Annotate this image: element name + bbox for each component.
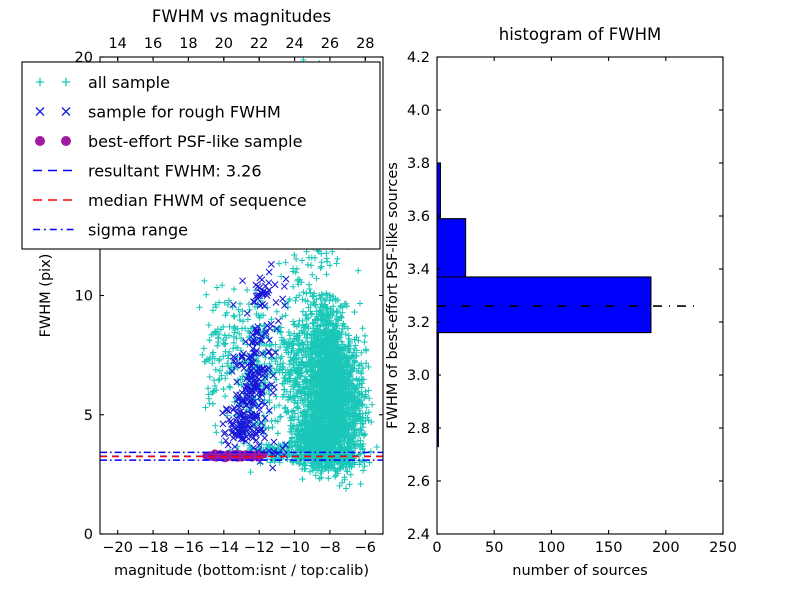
- marker-plus: [292, 298, 298, 304]
- histogram-ytick-label: 2.4: [407, 527, 430, 543]
- legend-item-label: resultant FWHM: 3.26: [88, 162, 262, 181]
- marker-plus: [274, 309, 280, 315]
- histogram-ytick-label: 2.6: [407, 474, 430, 490]
- marker-plus: [346, 332, 352, 338]
- marker-plus: [201, 345, 207, 351]
- marker-plus: [237, 317, 243, 323]
- scatter-top-tick-label: 14: [108, 36, 126, 52]
- marker-plus: [269, 418, 275, 424]
- marker-plus: [199, 352, 205, 358]
- histogram-ytick-label: 3.8: [407, 156, 430, 172]
- matplotlib-figure: −20−18−16−14−12−10−8−6141618202224262805…: [0, 0, 800, 600]
- marker-plus: [300, 289, 306, 295]
- marker-plus: [285, 304, 291, 310]
- marker-plus: [225, 363, 231, 369]
- marker-cross: [219, 410, 225, 416]
- marker-plus: [231, 313, 237, 319]
- marker-plus: [221, 341, 227, 347]
- scatter-ytick-label: 10: [75, 289, 93, 305]
- marker-plus: [325, 475, 331, 481]
- marker-plus: [312, 255, 318, 261]
- legend-item-label: median FHWM of sequence: [88, 191, 307, 210]
- marker-plus: [343, 485, 349, 491]
- scatter-xtick-label: −8: [319, 540, 340, 556]
- histogram-ytick-label: 3.4: [407, 262, 430, 278]
- marker-plus: [286, 361, 292, 367]
- marker-plus: [273, 348, 279, 354]
- marker-plus: [266, 409, 272, 415]
- marker-plus: [303, 466, 309, 472]
- legend-item-label: sample for rough FWHM: [88, 103, 281, 122]
- legend-item-label: best-effort PSF-like sample: [88, 132, 302, 151]
- marker-plus: [360, 467, 366, 473]
- marker-plus: [305, 262, 311, 268]
- marker-plus: [278, 324, 284, 330]
- scatter-ytick-label: 0: [84, 527, 93, 543]
- histogram-bar: [437, 277, 651, 333]
- marker-plus: [213, 429, 219, 435]
- marker-plus: [226, 383, 232, 389]
- marker-plus: [369, 401, 375, 407]
- marker-plus: [203, 292, 209, 298]
- marker-plus: [202, 404, 208, 410]
- scatter-xtick-label: −14: [209, 540, 240, 556]
- marker-cross: [283, 276, 289, 282]
- marker-plus: [283, 312, 289, 318]
- marker-plus: [237, 301, 243, 307]
- marker-plus: [201, 278, 207, 284]
- marker-plus: [368, 449, 374, 455]
- scatter-xtick-label: −20: [102, 540, 133, 556]
- marker-plus: [374, 444, 380, 450]
- marker-cross: [275, 318, 281, 324]
- marker-plus: [283, 259, 289, 265]
- marker-cross: [244, 310, 250, 316]
- marker-cross: [239, 278, 245, 284]
- marker-plus: [365, 387, 371, 393]
- histogram-bar: [437, 219, 466, 277]
- marker-plus: [206, 391, 212, 397]
- marker-plus: [333, 260, 339, 266]
- legend-item-label: all sample: [88, 73, 170, 92]
- marker-plus: [206, 400, 212, 406]
- marker-plus: [244, 287, 250, 293]
- histogram-xlabel-text: number of sources: [512, 563, 648, 579]
- marker-cross: [230, 407, 236, 413]
- histogram-ytick-label: 2.8: [407, 421, 430, 437]
- marker-cross: [273, 299, 279, 305]
- marker-plus: [355, 268, 361, 274]
- scatter-top-tick-label: 18: [179, 36, 197, 52]
- marker-plus: [358, 369, 364, 375]
- marker-plus: [306, 281, 312, 287]
- marker-plus: [222, 393, 228, 399]
- marker-plus: [352, 342, 358, 348]
- histogram-xtick-label: 0: [432, 540, 441, 556]
- marker-plus: [212, 422, 218, 428]
- marker-plus: [217, 356, 223, 362]
- scatter-ytick-label: 5: [84, 408, 93, 424]
- marker-plus: [299, 476, 305, 482]
- scatter-xlabel-text: magnitude (bottom:isnt / top:calib): [114, 563, 369, 579]
- marker-plus: [265, 425, 271, 431]
- scatter-xtick-label: −16: [173, 540, 204, 556]
- scatter-xtick-label: −12: [244, 540, 275, 556]
- marker-cross: [281, 283, 287, 289]
- scatter-top-tick-label: 22: [250, 36, 268, 52]
- scatter-top-tick-label: 16: [144, 36, 162, 52]
- histogram-xtick-label: 100: [538, 540, 566, 556]
- scatter-ylabel-text: FWHM (pix): [38, 254, 54, 338]
- histogram-bars: [437, 163, 694, 447]
- marker-plus: [213, 367, 219, 373]
- marker-plus: [275, 430, 281, 436]
- circle-marker-icon: [35, 136, 44, 145]
- marker-plus: [303, 290, 309, 296]
- marker-plus: [323, 250, 329, 256]
- legend-box: [22, 62, 380, 249]
- marker-plus: [231, 334, 237, 340]
- marker-plus: [227, 385, 233, 391]
- marker-plus: [224, 360, 230, 366]
- marker-cross: [268, 261, 274, 267]
- marker-plus: [313, 275, 319, 281]
- histogram-ytick-label: 3.2: [407, 315, 430, 331]
- histogram-ytick-label: 4.2: [407, 50, 430, 66]
- marker-cross: [262, 435, 268, 441]
- histogram-panel: 0501001502002502.42.62.83.03.23.43.63.84…: [385, 25, 737, 579]
- marker-plus: [246, 307, 252, 313]
- marker-plus: [210, 349, 216, 355]
- marker-plus: [220, 386, 226, 392]
- circle-marker-icon: [61, 136, 70, 145]
- marker-plus: [196, 304, 202, 310]
- marker-cross: [255, 283, 261, 289]
- marker-cross: [270, 465, 276, 471]
- marker-plus: [347, 481, 353, 487]
- marker-plus: [318, 259, 324, 265]
- marker-plus: [212, 383, 218, 389]
- marker-cross: [271, 384, 277, 390]
- scatter-top-tick-label: 20: [215, 36, 233, 52]
- marker-plus: [230, 345, 236, 351]
- marker-plus: [247, 469, 253, 475]
- marker-plus: [362, 333, 368, 339]
- scatter-xtick-label: −18: [138, 540, 169, 556]
- marker-plus: [358, 481, 364, 487]
- marker-plus: [351, 309, 357, 315]
- scatter-top-tick-label: 26: [321, 36, 339, 52]
- marker-plus: [299, 257, 305, 263]
- marker-cross: [266, 269, 272, 275]
- marker-plus: [206, 322, 212, 328]
- histogram-ytick-label: 4.0: [407, 103, 430, 119]
- histogram-xtick-label: 250: [709, 540, 737, 556]
- legend-item-label: sigma range: [88, 221, 188, 240]
- marker-plus: [210, 388, 216, 394]
- marker-plus: [205, 385, 211, 391]
- marker-plus: [368, 419, 374, 425]
- marker-plus: [279, 380, 285, 386]
- scatter-xtick-label: −10: [279, 540, 310, 556]
- marker-plus: [216, 377, 222, 383]
- marker-plus: [261, 413, 267, 419]
- marker-plus: [334, 256, 340, 262]
- marker-plus: [365, 417, 371, 423]
- marker-plus: [210, 307, 216, 313]
- histogram-xtick-label: 150: [595, 540, 623, 556]
- marker-plus: [348, 472, 354, 478]
- marker-cross: [270, 390, 276, 396]
- marker-plus: [309, 272, 315, 278]
- marker-plus: [258, 441, 264, 447]
- histogram-xtick-label: 200: [652, 540, 680, 556]
- marker-plus: [268, 343, 274, 349]
- marker-cross: [280, 296, 286, 302]
- marker-plus: [357, 300, 363, 306]
- marker-plus: [269, 424, 275, 430]
- marker-plus: [308, 262, 314, 268]
- scatter-top-tick-label: 28: [356, 36, 374, 52]
- marker-plus: [207, 374, 213, 380]
- marker-plus: [299, 296, 305, 302]
- marker-plus: [361, 339, 367, 345]
- marker-plus: [327, 262, 333, 268]
- marker-cross: [220, 421, 226, 427]
- marker-plus: [324, 255, 330, 261]
- marker-cross: [262, 283, 268, 289]
- legend: all samplesample for rough FWHMbest-effo…: [22, 62, 380, 249]
- scatter-xtick-label: −6: [355, 540, 376, 556]
- histogram-title-text: histogram of FWHM: [499, 25, 662, 44]
- histogram-ylabel-text: FWHM of best-effort PSF-like sources: [385, 162, 401, 429]
- marker-plus: [308, 311, 314, 317]
- scatter-top-tick-label: 24: [285, 36, 303, 52]
- histogram-ytick-label: 3.0: [407, 368, 430, 384]
- marker-plus: [278, 413, 284, 419]
- histogram-xtick-label: 50: [485, 540, 503, 556]
- figure-canvas: −20−18−16−14−12−10−8−6141618202224262805…: [0, 0, 800, 600]
- marker-plus: [307, 469, 313, 475]
- scatter-title-text: FWHM vs magnitudes: [152, 7, 331, 26]
- marker-plus: [214, 343, 220, 349]
- marker-plus: [318, 265, 324, 271]
- marker-cross: [272, 282, 278, 288]
- marker-plus: [231, 286, 237, 292]
- marker-cross: [265, 349, 271, 355]
- marker-plus: [324, 271, 330, 277]
- marker-cross: [259, 277, 265, 283]
- marker-plus: [332, 473, 338, 479]
- marker-plus: [360, 325, 366, 331]
- marker-plus: [276, 260, 282, 266]
- histogram-ytick-label: 3.6: [407, 209, 430, 225]
- marker-plus: [296, 318, 302, 324]
- marker-plus: [288, 418, 294, 424]
- marker-plus: [273, 394, 279, 400]
